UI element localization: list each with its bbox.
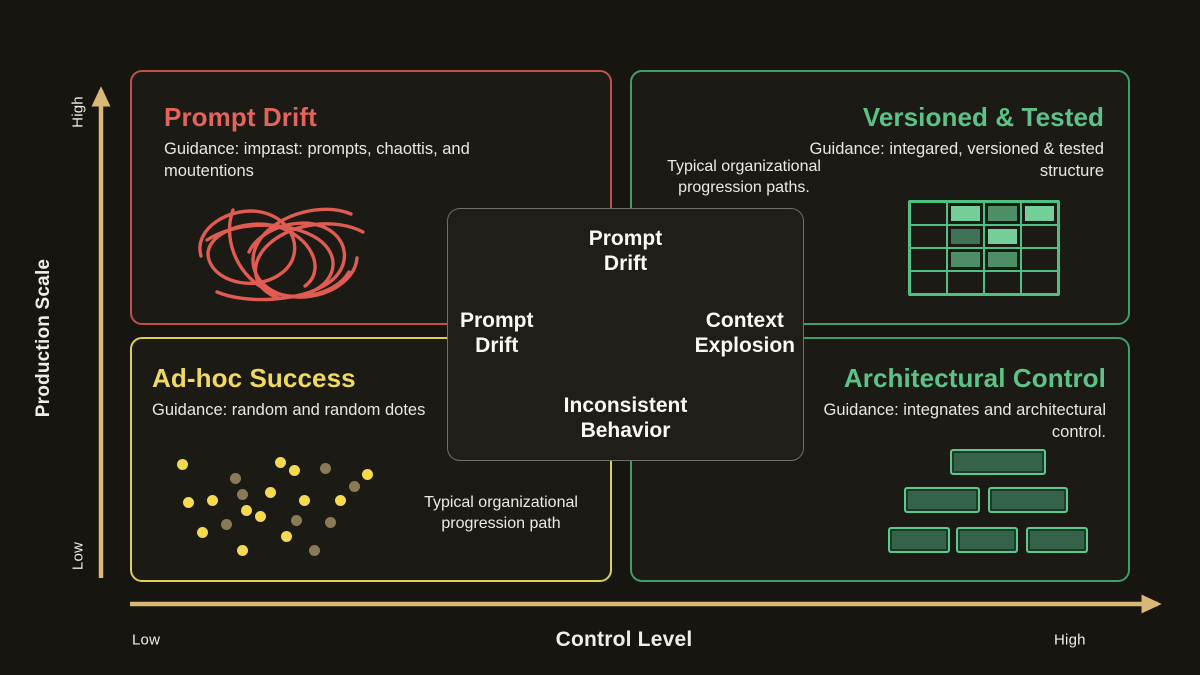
scatter-dot [197, 527, 208, 538]
grid-cell [984, 271, 1021, 294]
grid-cell [1021, 248, 1058, 271]
grid-cell [947, 202, 984, 225]
scatter-dot [237, 545, 248, 556]
scatter-dot [320, 463, 331, 474]
center-label-right: Context Explosion [695, 309, 795, 359]
grid-cell [947, 271, 984, 294]
center-label-top-line2: Drift [604, 252, 647, 275]
center-label-top: Prompt Drift [589, 227, 663, 277]
grid-cell-fill [1025, 206, 1054, 221]
x-axis-low-label: Low [132, 632, 160, 649]
scatter-dot [281, 531, 292, 542]
center-label-bottom-line1: Inconsistent [564, 394, 688, 417]
center-label-left-line1: Prompt [460, 309, 534, 332]
quadrant-title: Versioned & Tested [863, 102, 1104, 133]
red-scribble-icon [187, 192, 372, 312]
quadrant-description: Guidance: integnates and architectural c… [786, 399, 1106, 444]
brick [904, 487, 980, 513]
scatter-dot [207, 495, 218, 506]
scatter-dot [255, 511, 266, 522]
scatter-dot [289, 465, 300, 476]
y-axis-high-label: High [70, 96, 87, 128]
quadrant-title: Architectural Control [844, 363, 1106, 394]
grid-cell-fill [951, 275, 980, 290]
quadrant-title: Ad-hoc Success [152, 363, 356, 394]
grid-cell-fill [951, 206, 980, 221]
grid-cell-fill [914, 206, 943, 221]
brick [988, 487, 1068, 513]
grid-cell [984, 248, 1021, 271]
green-grid-icon [908, 200, 1060, 296]
diagram-canvas: Production Scale High Low Control Level … [0, 0, 1200, 675]
center-label-left-line2: Drift [475, 334, 518, 357]
scatter-dot [299, 495, 310, 506]
grid-cell-fill [951, 252, 980, 267]
scatter-dot [362, 469, 373, 480]
grid-cell [984, 225, 1021, 248]
grid-cell-fill [1025, 275, 1054, 290]
grid-cell [910, 202, 947, 225]
grid-cell-fill [1025, 229, 1054, 244]
scatter-dot [237, 489, 248, 500]
quadrant-description: Guidance: random and random dotes [152, 399, 482, 421]
brick [950, 449, 1046, 475]
scatter-dot [177, 459, 188, 470]
scatter-dot [291, 515, 302, 526]
grid-cell [910, 271, 947, 294]
center-label-right-line2: Explosion [695, 334, 795, 357]
grid-cell-fill [988, 275, 1017, 290]
grid-cell-fill [988, 206, 1017, 221]
scatter-dot [275, 457, 286, 468]
grid-cell [947, 225, 984, 248]
yellow-dots-icon [177, 457, 367, 567]
scatter-dot [230, 473, 241, 484]
y-axis-title: Production Scale [33, 259, 55, 417]
scatter-dot [309, 545, 320, 556]
grid-cell-fill [1025, 252, 1054, 267]
center-label-left: Prompt Drift [460, 309, 534, 359]
grid-cell [910, 225, 947, 248]
quadrant-description: Guidance: impɪast: prompts, chaottis, an… [164, 138, 554, 183]
grid-cell-fill [914, 229, 943, 244]
center-label-bottom: Inconsistent Behavior [564, 394, 688, 444]
x-axis-title: Control Level [556, 628, 693, 652]
center-label-right-line1: Context [706, 309, 784, 332]
scatter-dot [265, 487, 276, 498]
brick [1026, 527, 1088, 553]
scatter-dot [183, 497, 194, 508]
annotation-progression-paths-top: Typical organizational progression paths… [654, 157, 834, 199]
center-label-top-line1: Prompt [589, 227, 663, 250]
grid-cell [984, 202, 1021, 225]
grid-cell-fill [988, 229, 1017, 244]
grid-cell [1021, 225, 1058, 248]
grid-cell-fill [914, 275, 943, 290]
green-bricks-icon [888, 449, 1088, 557]
grid-cell [947, 248, 984, 271]
brick [956, 527, 1018, 553]
scatter-dot [221, 519, 232, 530]
scatter-dot [349, 481, 360, 492]
scatter-dot [325, 517, 336, 528]
x-axis-high-label: High [1054, 632, 1086, 649]
scatter-dot [241, 505, 252, 516]
center-label-bottom-line2: Behavior [581, 419, 671, 442]
grid-cell-fill [988, 252, 1017, 267]
annotation-progression-path-bottom: Typical organizational progression path [406, 493, 596, 535]
scatter-dot [335, 495, 346, 506]
grid-cell-fill [914, 252, 943, 267]
grid-cell [1021, 271, 1058, 294]
center-failure-modes-box[interactable]: Prompt Drift Prompt Drift Context Explos… [447, 208, 804, 461]
grid-cell [1021, 202, 1058, 225]
grid-cell [910, 248, 947, 271]
quadrant-title: Prompt Drift [164, 102, 317, 133]
brick [888, 527, 950, 553]
y-axis-low-label: Low [70, 542, 87, 570]
grid-cell-fill [951, 229, 980, 244]
